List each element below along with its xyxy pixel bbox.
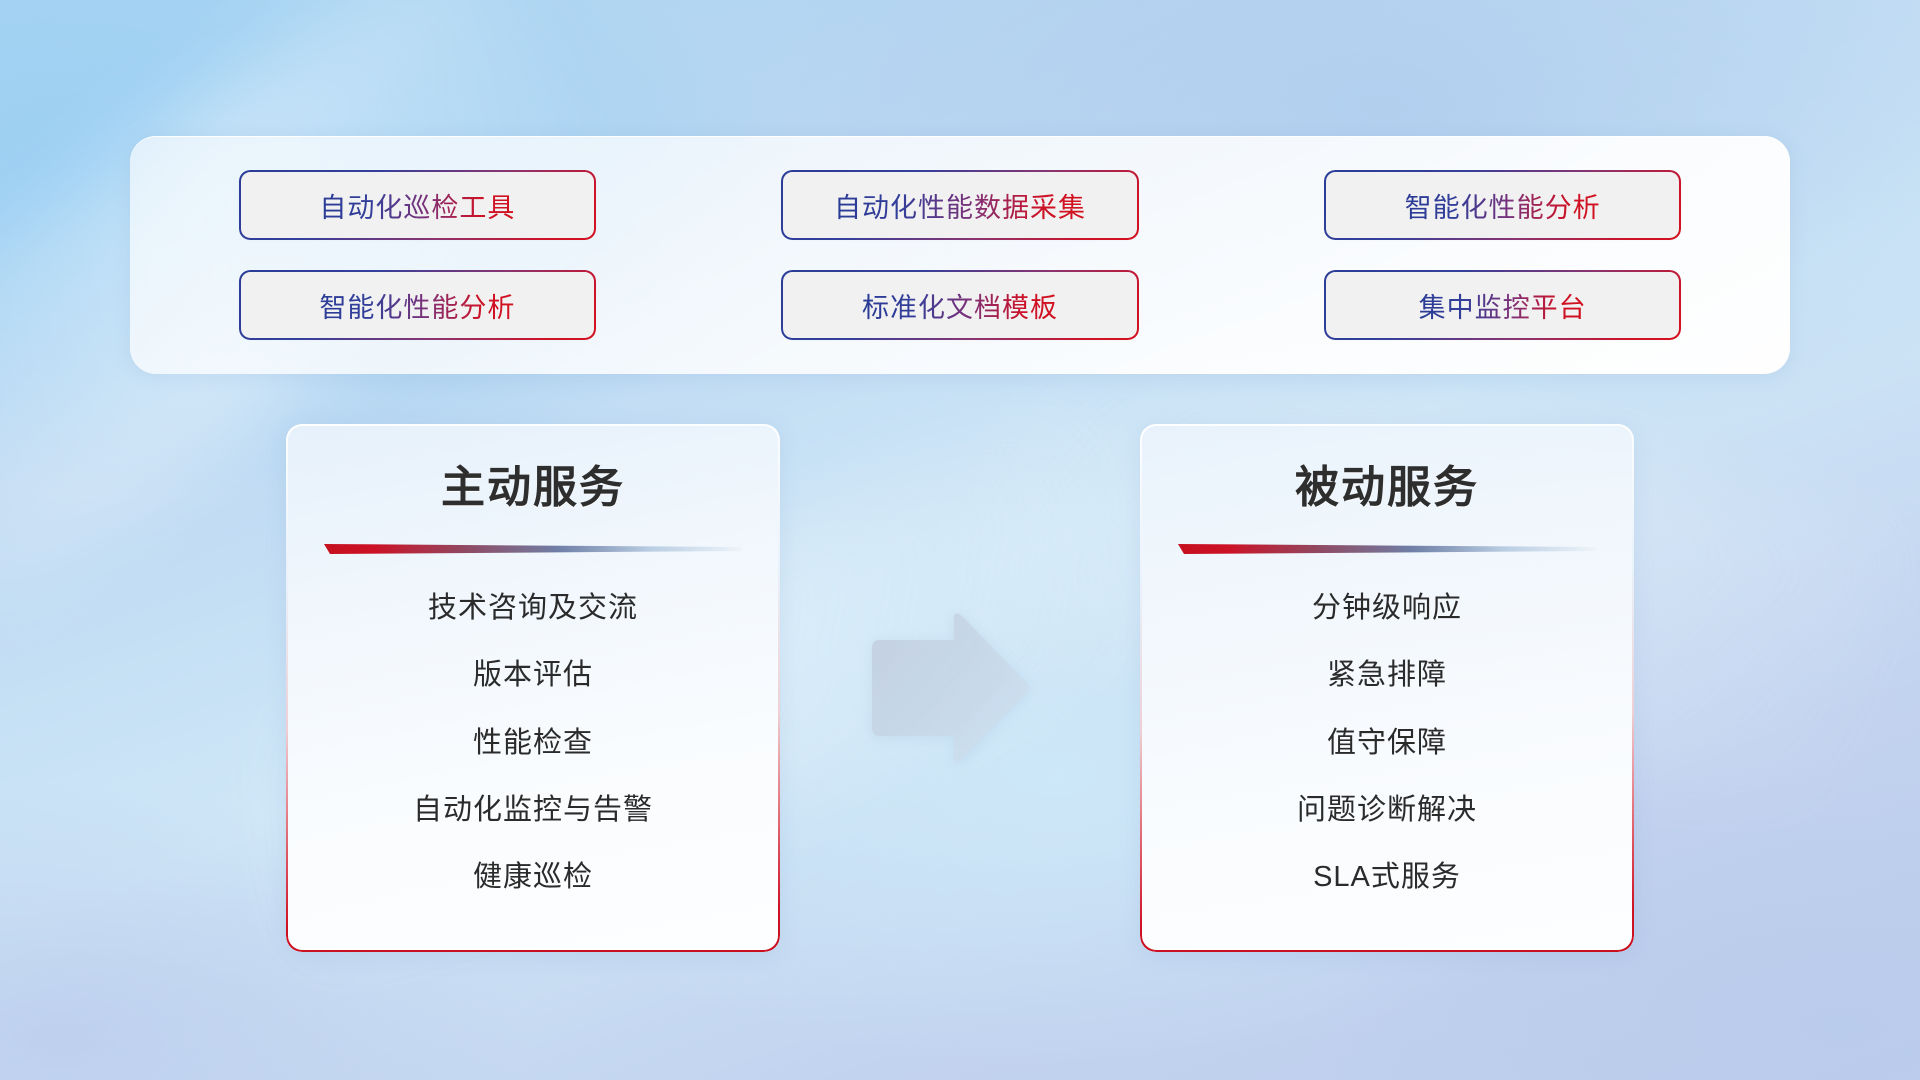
capability-tag[interactable]: 智能化性能分析 (240, 272, 594, 338)
service-card-active: 主动服务 技术咨询及交流 版本评估 性能检查 (286, 424, 780, 952)
capability-tag[interactable]: 标准化文档模板 (783, 272, 1137, 338)
capability-tag-label: 自动化巡检工具 (319, 186, 515, 225)
card-list-item: 健康巡检 (286, 844, 780, 911)
card-list-item: 技术咨询及交流 (286, 575, 780, 642)
card-list-item: SLA式服务 (1140, 844, 1634, 911)
capability-tag-label: 集中监控平台 (1419, 286, 1587, 325)
card-list-item: 分钟级响应 (1140, 575, 1634, 642)
card-title: 主动服务 (286, 464, 780, 512)
capability-tags-panel: 自动化巡检工具 自动化性能数据采集 智能化性能分析 智能化性能分析 标准化文档模… (130, 136, 1790, 374)
card-item-list: 技术咨询及交流 版本评估 性能检查 自动化监控与告警 健康巡检 (286, 556, 780, 952)
card-list-item: 值守保障 (1140, 710, 1634, 777)
card-list-item: 问题诊断解决 (1140, 777, 1634, 844)
title-divider (1178, 542, 1596, 556)
capability-tag[interactable]: 自动化性能数据采集 (783, 172, 1137, 238)
capability-tag-label: 自动化性能数据采集 (834, 186, 1086, 225)
card-list-item: 紧急排障 (1140, 642, 1634, 709)
title-divider (324, 542, 742, 556)
card-list-item: 版本评估 (286, 642, 780, 709)
capability-tag-label: 智能化性能分析 (319, 286, 515, 325)
service-card-passive: 被动服务 分钟级响应 紧急排障 值守保障 (1140, 424, 1634, 952)
card-item-list: 分钟级响应 紧急排障 值守保障 问题诊断解决 SLA式服务 (1140, 556, 1634, 952)
capability-tag[interactable]: 集中监控平台 (1326, 272, 1680, 338)
capability-tag-label: 标准化文档模板 (862, 286, 1058, 325)
card-list-item: 自动化监控与告警 (286, 777, 780, 844)
capability-tag[interactable]: 自动化巡检工具 (240, 172, 594, 238)
card-title: 被动服务 (1140, 464, 1634, 512)
capability-tag[interactable]: 智能化性能分析 (1326, 172, 1680, 238)
capability-tag-label: 智能化性能分析 (1405, 186, 1601, 225)
arrow-right-icon (866, 610, 1032, 770)
card-list-item: 性能检查 (286, 710, 780, 777)
